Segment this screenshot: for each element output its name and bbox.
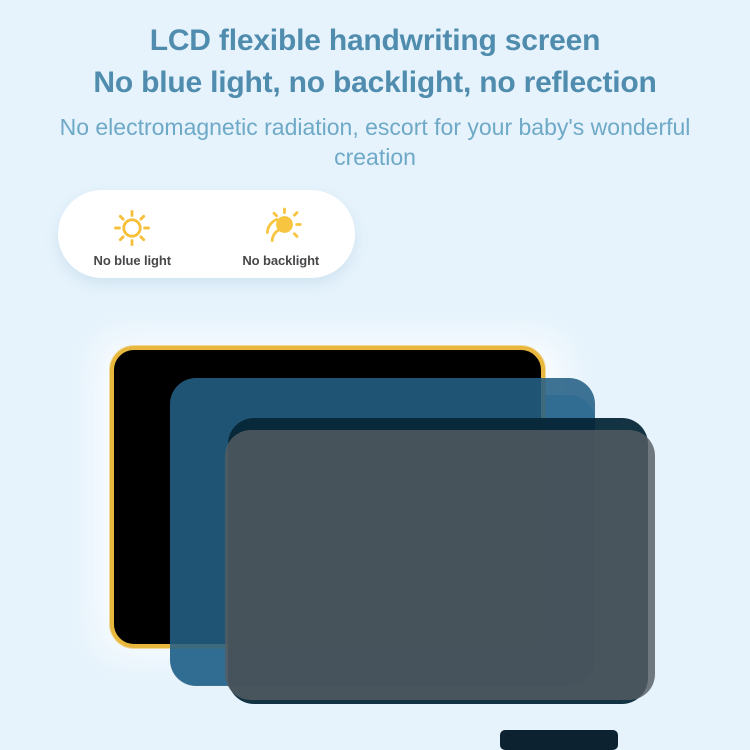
feature-badge-no-blue-light: No blue light <box>58 207 207 268</box>
subtitle-text: No electromagnetic radiation, escort for… <box>0 112 750 173</box>
feature-badge-card: No blue light <box>58 190 355 278</box>
headline-block: LCD flexible handwriting screen No blue … <box>0 22 750 173</box>
headline-line-1: LCD flexible handwriting screen <box>0 22 750 60</box>
translucent-grey-sheet-layer <box>225 430 655 700</box>
feature-badge-label: No blue light <box>94 253 171 268</box>
stylus-tray <box>500 730 618 750</box>
headline-line-2: No blue light, no backlight, no reflecti… <box>0 64 750 102</box>
feature-badge-label: No backlight <box>242 253 319 268</box>
sun-backlight-icon <box>259 207 303 249</box>
feature-badge-list: No blue light <box>58 190 355 278</box>
product-banner: LCD flexible handwriting screen No blue … <box>0 0 750 750</box>
layered-writing-tablet-illustration <box>0 300 750 750</box>
sun-outline-icon <box>110 207 154 249</box>
feature-badge-no-backlight: No backlight <box>207 207 356 268</box>
